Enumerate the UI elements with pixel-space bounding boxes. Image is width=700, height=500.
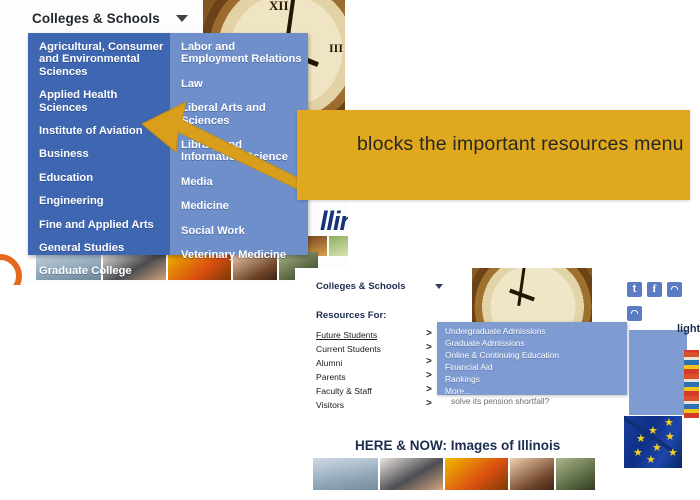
flag-star-5: ★ (652, 443, 662, 454)
resource-link-future-students[interactable]: Future Students (316, 330, 377, 340)
resource-link-faculty-staff[interactable]: Faculty & Staff (316, 386, 372, 396)
partial-word-illinois: llinois (320, 206, 348, 237)
twitter-icon[interactable]: t (627, 282, 642, 297)
menu-item-social-work[interactable]: Social Work (181, 225, 308, 237)
caret-icon-6: > (426, 398, 432, 409)
flag-star-2: ★ (648, 426, 658, 437)
partial-word-spotlight: light (677, 323, 700, 335)
nav-label-colleges-schools-page[interactable]: Colleges & Schools (316, 281, 406, 292)
here-now-thumbnails (313, 458, 595, 490)
menu-item-graduate-college[interactable]: Graduate College (39, 265, 170, 277)
thumb-child-2[interactable] (510, 458, 553, 490)
menu-item-general-studies[interactable]: General Studies (39, 242, 170, 254)
flag-star-8: ★ (646, 455, 656, 466)
menu-item-vet-med[interactable]: Veterinary Medicine (181, 249, 308, 261)
submenu-item-graduate-admissions[interactable]: Graduate Admissions (445, 338, 525, 348)
future-students-submenu[interactable]: Undergraduate Admissions Graduate Admiss… (437, 322, 627, 395)
thumb-2 (329, 236, 348, 256)
clock-numeral-xii: XII (269, 0, 289, 14)
clock-numeral-iii: III (329, 41, 343, 56)
caret-icon-3: > (426, 356, 432, 367)
submenu-item-undergraduate-admissions[interactable]: Undergraduate Admissions (445, 326, 546, 336)
caret-icon-4: > (426, 370, 432, 381)
flag-star-1: ★ (664, 418, 674, 429)
resource-link-parents[interactable]: Parents (316, 372, 346, 382)
full-page-screenshot-region: Colleges & Schools Resources For: Future… (295, 268, 700, 500)
chevron-down-icon[interactable] (176, 15, 188, 22)
thumb-flowers-2[interactable] (445, 458, 508, 490)
facebook-icon[interactable]: f (647, 282, 662, 297)
submenu-item-rankings[interactable]: Rankings (445, 374, 480, 384)
annotation-callout-box: blocks the important resources menu (297, 110, 690, 200)
resources-for-label: Resources For: (316, 310, 386, 321)
flag-star-4: ★ (636, 434, 646, 445)
obscured-article-text: solve its pension shortfall? (451, 396, 549, 406)
menu-item-faa[interactable]: Fine and Applied Arts (39, 219, 170, 231)
screenshot-canvas: XII III llinois Colleges & Schools (0, 0, 700, 500)
flag-star-6: ★ (633, 448, 643, 459)
nav-label-colleges-schools[interactable]: Colleges & Schools (32, 11, 160, 26)
chevron-down-icon-page[interactable] (435, 284, 443, 289)
thumb-trees-2[interactable] (556, 458, 595, 490)
gold-pointer-arrow (140, 100, 320, 195)
menu-item-ler[interactable]: Labor and Employment Relations (181, 41, 308, 66)
rss-feed-icon[interactable]: ◠ (627, 306, 642, 321)
resource-link-current-students[interactable]: Current Students (316, 344, 381, 354)
rss-icon[interactable]: ◠ (667, 282, 682, 297)
menu-item-medicine[interactable]: Medicine (181, 200, 308, 212)
clock-hand-minute-small (517, 268, 526, 306)
resource-link-visitors[interactable]: Visitors (316, 400, 344, 410)
caret-icon-5: > (426, 384, 432, 395)
eu-flag-photo: ★ ★ ★ ★ ★ ★ ★ ★ (624, 416, 682, 468)
submenu-item-more[interactable]: More... (445, 386, 471, 396)
submenu-item-financial-aid[interactable]: Financial Aid (445, 362, 493, 372)
submenu-item-online-continuing-education[interactable]: Online & Continuing Education (445, 350, 559, 360)
menu-item-law[interactable]: Law (181, 78, 308, 90)
caret-icon-1: > (426, 328, 432, 339)
menu-item-aces[interactable]: Agricultural, Consumer and Environmental… (39, 41, 170, 78)
resource-link-alumni[interactable]: Alumni (316, 358, 342, 368)
caret-icon-2: > (426, 342, 432, 353)
here-now-title: HERE & NOW: Images of Illinois (355, 438, 560, 453)
thumb-dancers-2[interactable] (380, 458, 443, 490)
annotation-callout-text: blocks the important resources menu (357, 131, 687, 158)
color-banner-strip (684, 350, 699, 418)
flag-star-7: ★ (668, 448, 678, 459)
menu-item-engineering[interactable]: Engineering (39, 195, 170, 207)
thumb-skyline-2[interactable] (313, 458, 378, 490)
flag-star-3: ★ (665, 432, 675, 443)
blue-panel-block (629, 330, 687, 415)
orange-circle-graphic (0, 254, 22, 285)
